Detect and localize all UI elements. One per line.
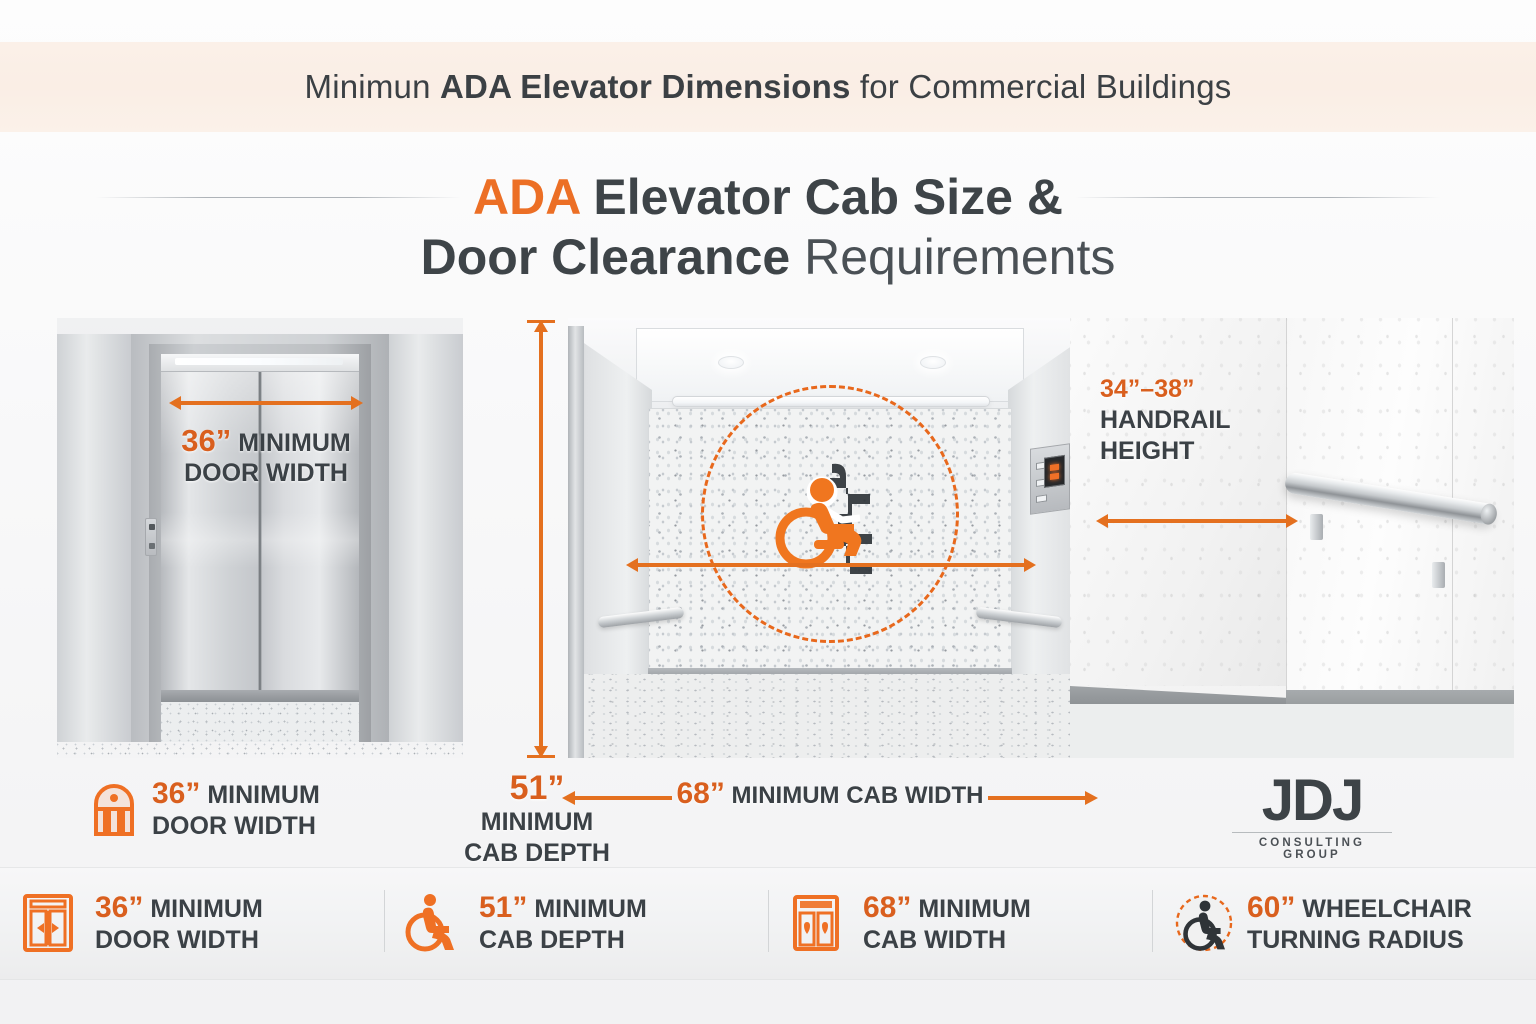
cab-depth-arrow	[534, 320, 548, 758]
cab-door-jamb-left	[568, 326, 584, 758]
door-center-seam	[259, 372, 262, 690]
door-leaf-right	[117, 811, 125, 834]
cab-floor-visible	[161, 702, 359, 742]
footer-item-1-value: 36”	[95, 891, 143, 924]
door-leaf-left	[103, 811, 111, 834]
page-title-line1: ADA Elevator Cab Size &	[0, 168, 1536, 226]
cab-icon-header	[800, 901, 832, 908]
title-line1-rest: Elevator Cab Size &	[579, 169, 1063, 225]
infographic-root: Minimun ADA Elevator Dimensions for Comm…	[0, 0, 1536, 1024]
cab-floor-texture	[568, 674, 1092, 758]
handrail-height-word1: HANDRAIL	[1100, 406, 1231, 434]
door-width-value: 36”	[181, 423, 231, 458]
cab-button-3[interactable]	[1036, 494, 1047, 503]
legend-door-word1: MINIMUM	[200, 781, 319, 809]
doors-icon-seam	[47, 911, 49, 945]
title-line2-light: Requirements	[790, 229, 1115, 285]
title-rule-right	[1075, 197, 1440, 198]
footer-item-3-text: 68” MINIMUM CAB WIDTH	[863, 892, 1031, 956]
door-surround-right	[389, 334, 463, 742]
footer-item-1-text: 36” MINIMUM DOOR WIDTH	[95, 892, 263, 956]
ceiling-light-right	[920, 356, 946, 369]
arrow-head-right	[1085, 791, 1098, 805]
arrow-shaft	[178, 401, 354, 405]
handrail-height-value: 34”–38”	[1100, 375, 1195, 403]
cab-width-word: MINIMUM CAB WIDTH	[725, 782, 984, 809]
arrow-cap-top	[527, 320, 555, 323]
call-button-down[interactable]	[149, 543, 155, 549]
elevator-cab-interior-photo	[568, 318, 1092, 758]
banner-title: Minimun ADA Elevator Dimensions for Comm…	[305, 68, 1232, 106]
cab-floor-indicator	[1044, 455, 1065, 488]
footer-summary-bar: 36” MINIMUM DOOR WIDTH 51” MINIMUM CAB D…	[0, 867, 1536, 980]
page-title: ADA Elevator Cab Size & Door Clearance R…	[0, 168, 1536, 286]
cab-floor	[568, 674, 1092, 758]
door-lamp	[175, 358, 343, 365]
footer-item-cab-width: 68” MINIMUM CAB WIDTH	[768, 868, 1152, 979]
title-accent-ada: ADA	[473, 169, 579, 225]
footer-item-3-value: 68”	[863, 891, 911, 924]
door-arch-detail	[110, 794, 118, 802]
door-width-word: MINIMUM	[231, 429, 350, 457]
footer-item-1-label2: DOOR WIDTH	[95, 926, 259, 954]
arrow-head-right	[351, 396, 363, 410]
ceiling-light-left	[718, 356, 744, 369]
cab-width-arrow-left	[562, 791, 672, 805]
footer-item-4-label1: WHEELCHAIR	[1295, 895, 1471, 923]
cab-width-inner-arrow	[626, 558, 1036, 572]
elevator-door-leaves	[161, 372, 359, 690]
door-surround-left	[57, 334, 131, 742]
call-button-up[interactable]	[149, 524, 155, 530]
arrow-shaft	[573, 796, 672, 800]
cab-icon-mark-right	[822, 922, 828, 934]
handrail-bracket-2	[1432, 562, 1445, 588]
arrow-cap-bottom	[527, 755, 555, 758]
handrail-height-word2: HEIGHT	[1100, 437, 1194, 465]
arrow-head-right	[1286, 514, 1298, 528]
logo-mark-text: JDJ	[1228, 772, 1396, 830]
footer-item-2-value: 51”	[479, 891, 527, 924]
top-banner: Minimun ADA Elevator Dimensions for Comm…	[0, 42, 1536, 132]
door-width-arrow	[169, 396, 363, 410]
doors-icon-arrow-right	[52, 923, 59, 933]
banner-title-part1: Minimun	[305, 68, 440, 105]
elevator-cab-icon	[790, 893, 848, 955]
cab-width-arrow-right	[988, 791, 1098, 805]
footer-item-1-label1: MINIMUM	[143, 895, 262, 923]
cab-depth-word1: MINIMUM	[481, 808, 593, 836]
door-width-word2: DOOR WIDTH	[184, 459, 348, 487]
banner-title-part3: for Commercial Buildings	[851, 68, 1232, 105]
title-line2-bold: Door Clearance	[421, 229, 791, 285]
arrow-head-right	[1024, 558, 1036, 572]
handrail-height-arrow	[1096, 514, 1298, 528]
lobby-floor	[57, 742, 463, 758]
symbol-head	[810, 478, 834, 502]
wheelchair-turning-radius-icon	[1174, 893, 1232, 955]
legend-door-value: 36”	[152, 777, 200, 810]
arched-door-icon	[92, 784, 136, 836]
footer-item-3-label2: CAB WIDTH	[863, 926, 1006, 954]
door-header-band	[96, 807, 132, 811]
banner-title-part2: ADA Elevator Dimensions	[440, 68, 850, 105]
illustration-row: 36” MINIMUM DOOR WIDTH	[0, 318, 1536, 760]
door-sill	[161, 690, 359, 702]
arrow-shaft	[635, 563, 1027, 567]
title-rule-left	[96, 197, 461, 198]
wheelchair-icon	[406, 893, 464, 955]
handrail-photo: 34”–38” HANDRAIL HEIGHT	[1070, 318, 1514, 758]
door-width-label: 36” MINIMUM DOOR WIDTH	[161, 426, 371, 488]
logo-subtitle: CONSULTING GROUP	[1228, 837, 1396, 861]
elevator-doors-photo: 36” MINIMUM DOOR WIDTH	[57, 318, 463, 758]
cab-control-panel[interactable]	[1030, 443, 1070, 515]
doors-icon-arrow-left	[37, 923, 44, 933]
symbol-seat	[814, 540, 844, 549]
arrow-shaft	[1105, 519, 1289, 523]
arrow-shaft	[539, 329, 543, 749]
cab-width-caption: 68” MINIMUM CAB WIDTH	[560, 776, 1100, 812]
arrow-shaft	[988, 796, 1087, 800]
footer-item-2-label2: CAB DEPTH	[479, 926, 625, 954]
footer-item-4-text: 60” WHEELCHAIR TURNING RADIUS	[1247, 892, 1472, 956]
legend-door-word2: DOOR WIDTH	[152, 812, 316, 840]
cab-icon-mark-left	[804, 922, 810, 934]
footer-item-3-label1: MINIMUM	[911, 895, 1030, 923]
corridor-floor	[1070, 704, 1514, 758]
footer-item-2-text: 51” MINIMUM CAB DEPTH	[479, 892, 647, 956]
handrail-height-label: 34”–38” HANDRAIL HEIGHT	[1100, 374, 1310, 467]
cab-width-value: 68”	[677, 777, 725, 810]
cab-depth-value: 51”	[510, 769, 565, 807]
footer-item-2-label1: MINIMUM	[527, 895, 646, 923]
hall-call-panel[interactable]	[145, 518, 157, 556]
led-segment-2	[1050, 472, 1059, 479]
legend-door-width-text: 36” MINIMUM DOOR WIDTH	[152, 778, 320, 842]
turning-icon-head	[1200, 900, 1211, 911]
footer-item-cab-depth: 51” MINIMUM CAB DEPTH	[384, 868, 768, 979]
footer-item-4-label2: TURNING RADIUS	[1247, 926, 1464, 954]
doors-icon-transom	[31, 901, 65, 907]
wheelchair-accessibility-symbol	[770, 454, 902, 574]
wheelchair-icon-head	[424, 894, 436, 906]
led-segment-1	[1050, 463, 1059, 470]
cab-width-text: 68” MINIMUM CAB WIDTH	[665, 777, 996, 811]
page-title-line2: Door Clearance Requirements	[0, 228, 1536, 286]
elevator-doors-icon	[22, 893, 80, 955]
footer-item-turning-radius: 60” WHEELCHAIR TURNING RADIUS	[1152, 868, 1536, 979]
footer-item-door-width: 36” MINIMUM DOOR WIDTH	[0, 868, 384, 979]
handrail-bracket-1	[1310, 514, 1323, 540]
cab-depth-word2: CAB DEPTH	[464, 839, 610, 867]
jdj-logo: JDJ CONSULTING GROUP	[1228, 772, 1396, 861]
footer-item-4-value: 60”	[1247, 891, 1295, 924]
legend-item-door-width: 36” MINIMUM DOOR WIDTH	[92, 778, 320, 842]
